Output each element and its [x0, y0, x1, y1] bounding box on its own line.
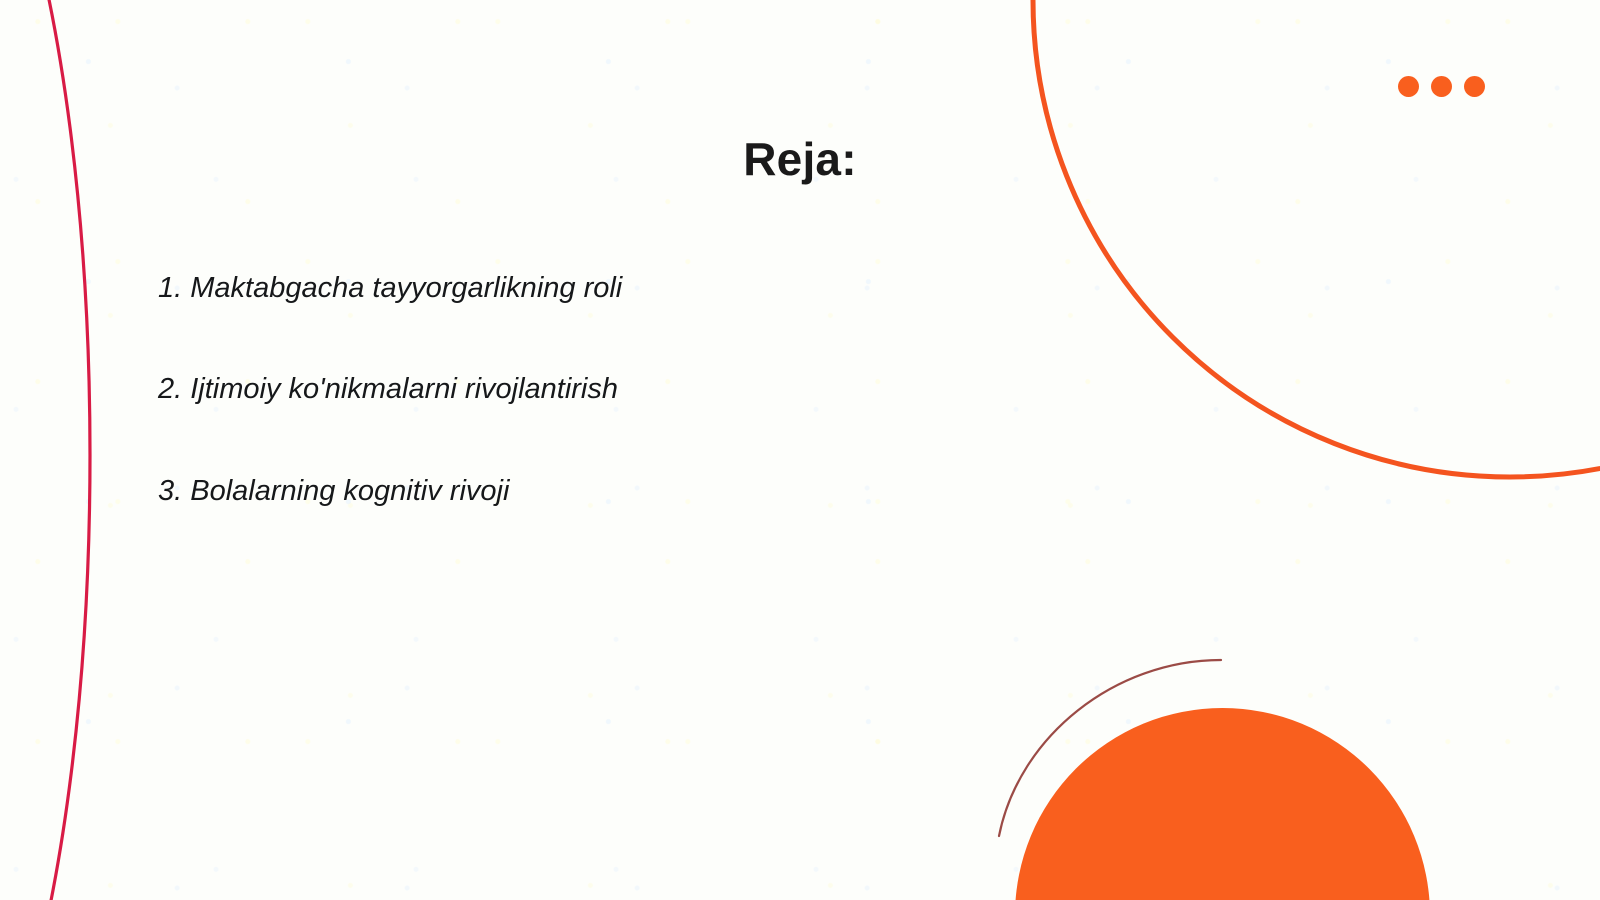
orange-circle-icon — [1015, 708, 1430, 900]
list-item: 3. Bolalarning kognitiv rivoji — [158, 475, 978, 508]
page-title: Reja: — [0, 132, 1600, 186]
list-item: 1. Maktabgacha tayyorgarlikning roli — [158, 272, 978, 305]
top-right-arc-icon — [990, 0, 1600, 520]
dot-icon — [1398, 76, 1419, 97]
dot-group — [1398, 76, 1485, 97]
list-item: 2. Ijtimoiy ko'nikmalarni rivojlantirish — [158, 373, 978, 406]
agenda-list: 1. Maktabgacha tayyorgarlikning roli 2. … — [158, 272, 978, 508]
dot-icon — [1431, 76, 1452, 97]
dot-icon — [1464, 76, 1485, 97]
slide-canvas: Reja: 1. Maktabgacha tayyorgarlikning ro… — [0, 0, 1600, 900]
